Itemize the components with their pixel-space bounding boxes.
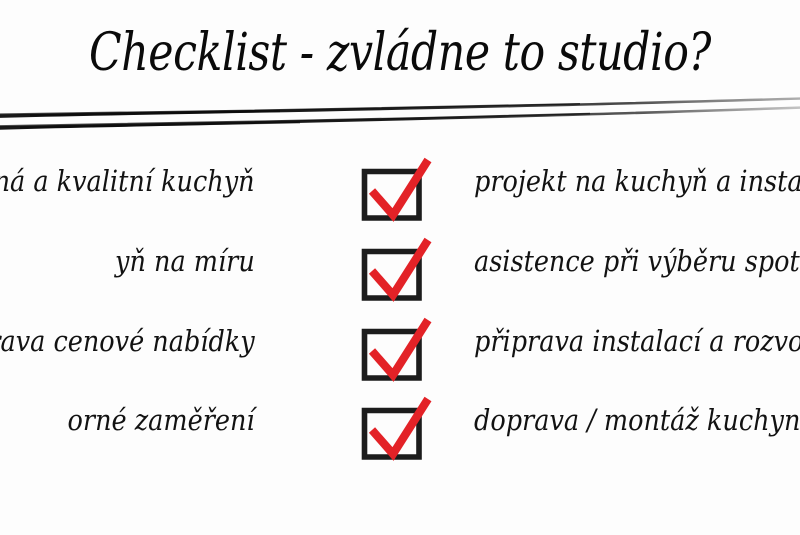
checklist-item-label-left: yň na míru	[115, 246, 255, 278]
checklist-row: orné zaměření doprava / montáž kuchyně	[0, 397, 800, 475]
checklist-item-label-right: doprava / montáž kuchyně	[474, 405, 800, 437]
checklist-row: yň na míru asistence při výběru spotře	[0, 238, 800, 316]
checkbox-checked[interactable]	[355, 158, 433, 230]
checklist-row: ná a kvalitní kuchyň projekt na kuchyň a…	[0, 158, 800, 236]
checkbox-checked[interactable]	[355, 318, 433, 390]
checklist-item-label-right: projekt na kuchyň a instala	[474, 166, 800, 198]
checklist-item-label-right: připrava instalací a rozvod	[474, 326, 800, 358]
checklist-item-label-right: asistence při výběru spotře	[474, 246, 800, 278]
checklist-item-label-left: ná a kvalitní kuchyň	[0, 166, 255, 198]
checklist-item-label-left: orné zaměření	[68, 405, 255, 437]
checkbox-checked[interactable]	[355, 238, 433, 310]
checkbox-checked[interactable]	[355, 397, 433, 469]
hand-drawn-double-rule	[0, 92, 800, 144]
checklist-rows: ná a kvalitní kuchyň projekt na kuchyň a…	[0, 150, 800, 480]
checklist-poster: Checklist - zvládne to studio?	[0, 0, 800, 535]
page-title: Checklist - zvládne to studio?	[72, 26, 728, 81]
checklist-row: rava cenové nabídky připrava instalací a…	[0, 318, 800, 396]
checklist-item-label-left: rava cenové nabídky	[0, 326, 255, 358]
